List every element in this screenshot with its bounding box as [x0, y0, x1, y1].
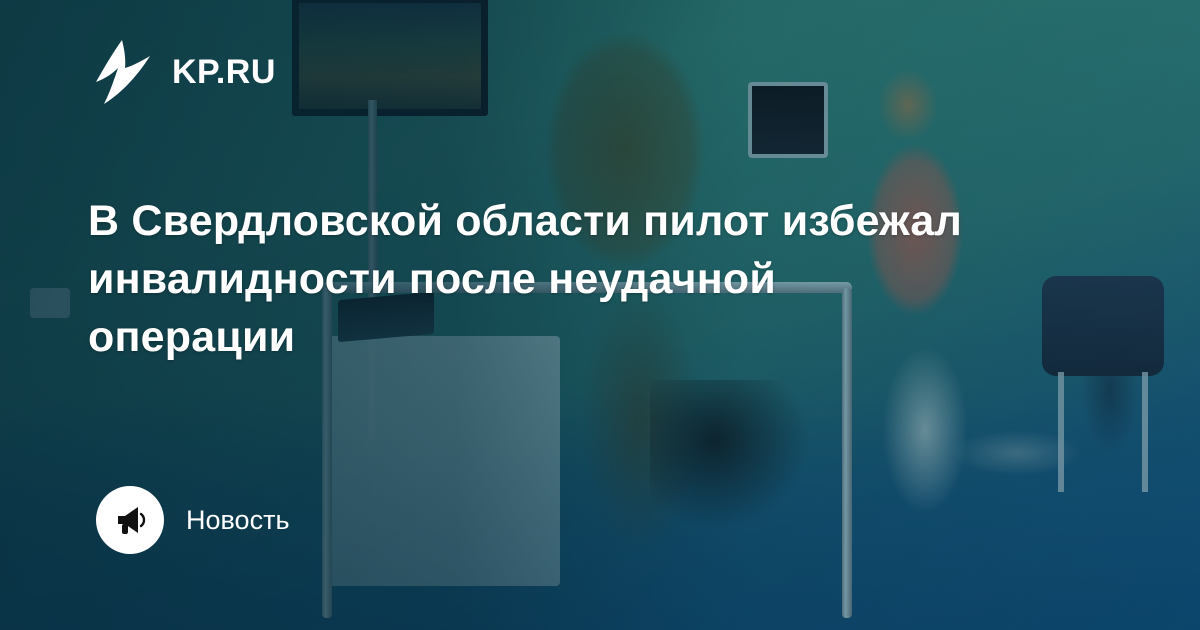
card-content: KP.RU В Свердловской области пилот избеж… [0, 0, 1200, 630]
news-share-card: KP.RU В Свердловской области пилот избеж… [0, 0, 1200, 630]
page-title: В Свердловской области пилот избежал инв… [88, 192, 988, 366]
brand-name: KP.RU [172, 53, 276, 92]
bird-logo-icon [92, 38, 154, 106]
megaphone-icon [96, 486, 164, 554]
status-badge-label: Новость [186, 505, 290, 536]
status-badge[interactable]: Новость [96, 486, 290, 554]
brand-lockup[interactable]: KP.RU [92, 38, 276, 106]
